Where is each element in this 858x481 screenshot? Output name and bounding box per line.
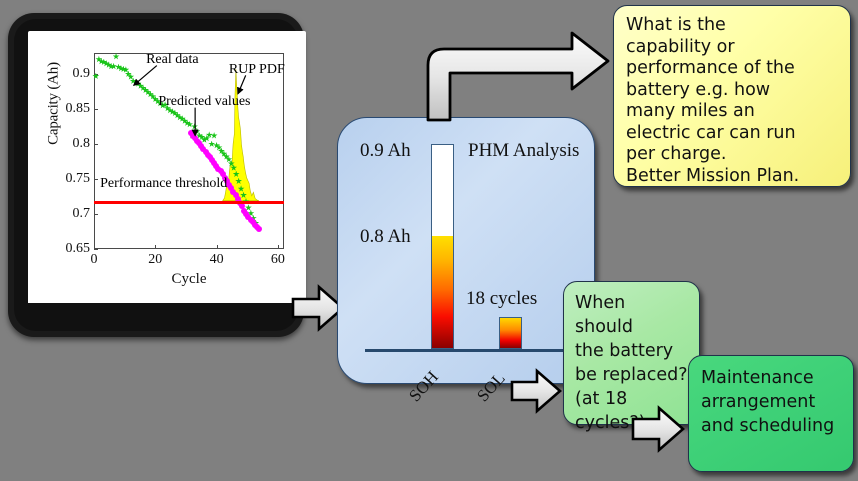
phm-analysis-panel[interactable]: PHM Analysis 0.9 Ah 0.8 Ah 18 cycles SOH… bbox=[337, 117, 595, 384]
arrow-phm-to-yellow-callout bbox=[424, 17, 624, 129]
capacity-degradation-chart: Capacity (Ah) 0.650.70.750.80.850.902040… bbox=[28, 31, 306, 303]
tablet-screen: Capacity (Ah) 0.650.70.750.80.850.902040… bbox=[28, 31, 306, 303]
arrow-green-light-to-green-dark bbox=[629, 404, 695, 456]
chart-annotation-label: Real data bbox=[146, 52, 198, 68]
callout-yellow-capability[interactable]: What is the capability or performance of… bbox=[613, 5, 851, 187]
soh-gauge-bar bbox=[431, 144, 454, 349]
tablet-device: Capacity (Ah) 0.650.70.750.80.850.902040… bbox=[8, 13, 304, 337]
chart-annotation-label: Performance threshold bbox=[100, 176, 227, 192]
chart-annotation-label: RUP PDF bbox=[229, 62, 285, 78]
chart-annotation-label: Predicted values bbox=[158, 94, 250, 110]
arrow-phm-to-green-light-callout bbox=[508, 367, 570, 417]
callout-green-dark-text: Maintenance arrangement and scheduling bbox=[701, 366, 841, 438]
phm-panel-title: PHM Analysis bbox=[468, 140, 579, 162]
phm-baseline-axis bbox=[365, 349, 570, 352]
sol-gauge-bar bbox=[499, 317, 522, 349]
phm-axis-label-sol: SOL bbox=[473, 369, 509, 406]
chart-x-axis-label: Cycle bbox=[94, 271, 284, 288]
phm-axis-label-soh: SOH bbox=[405, 367, 443, 406]
sol-cycles-label: 18 cycles bbox=[466, 288, 537, 310]
callout-yellow-text: What is the capability or performance of… bbox=[626, 15, 838, 187]
soh-gauge-fill bbox=[432, 236, 453, 348]
diagram-canvas: Capacity (Ah) 0.650.70.750.80.850.902040… bbox=[0, 0, 858, 481]
callout-green-maintenance-action[interactable]: Maintenance arrangement and scheduling bbox=[688, 355, 854, 472]
soh-lower-value-label: 0.8 Ah bbox=[360, 226, 411, 248]
soh-upper-value-label: 0.9 Ah bbox=[360, 140, 411, 162]
